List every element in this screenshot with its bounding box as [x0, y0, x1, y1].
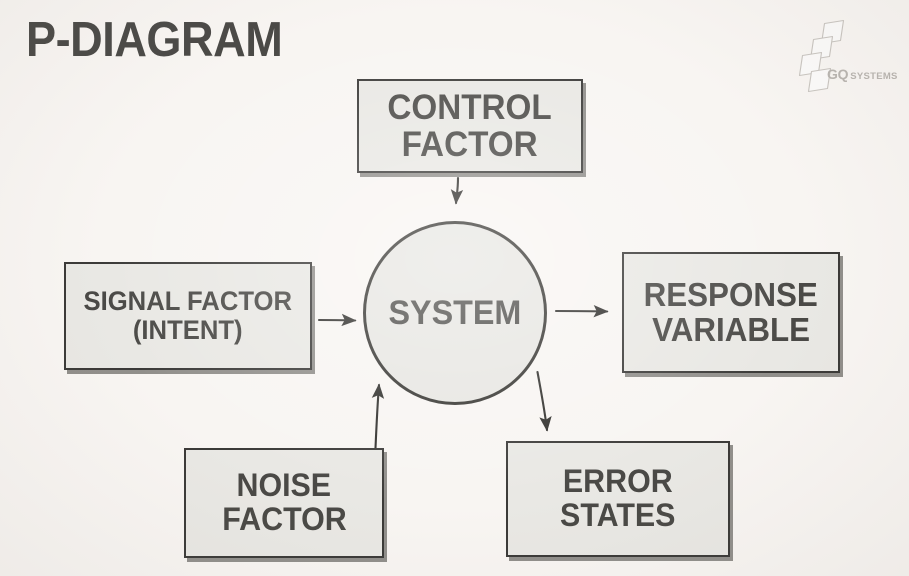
node-system-label: SYSTEM: [389, 294, 522, 333]
logo-gq-text: GQ: [827, 66, 848, 82]
node-signal-factor[interactable]: SIGNAL FACTOR (INTENT): [64, 262, 312, 370]
node-control-factor-line1: CONTROL: [388, 89, 552, 126]
edge-noise-to-system: [376, 385, 380, 448]
node-control-factor-line2: FACTOR: [402, 126, 538, 163]
page-title: P-DIAGRAM: [26, 16, 282, 65]
edge-control-to-system: [456, 178, 458, 203]
node-response-variable[interactable]: RESPONSE VARIABLE: [622, 252, 840, 373]
node-signal-factor-line2: (INTENT): [133, 316, 243, 345]
edge-system-to-response: [556, 311, 607, 312]
node-control-factor[interactable]: CONTROL FACTOR: [357, 79, 583, 173]
node-noise-factor[interactable]: NOISE FACTOR: [184, 448, 384, 558]
edge-signal-to-system: [319, 320, 355, 321]
node-system[interactable]: SYSTEM: [363, 221, 547, 405]
node-error-states[interactable]: ERROR STATES: [506, 441, 730, 557]
diagram-canvas: P-DIAGRAM GQSYSTEMS: [0, 0, 909, 576]
edge-system-to-error: [538, 372, 548, 430]
node-noise-factor-line1: NOISE: [237, 469, 332, 503]
node-error-states-line1: ERROR: [563, 465, 673, 499]
node-response-variable-line1: RESPONSE: [644, 278, 818, 313]
logo-wordmark: GQSYSTEMS: [827, 66, 898, 84]
node-signal-factor-line1: SIGNAL FACTOR: [84, 287, 293, 316]
gq-systems-logo: GQSYSTEMS: [783, 18, 903, 94]
node-response-variable-line2: VARIABLE: [652, 313, 810, 348]
node-noise-factor-line2: FACTOR: [222, 503, 346, 537]
logo-systems-text: SYSTEMS: [850, 71, 898, 82]
node-error-states-line2: STATES: [560, 499, 675, 533]
